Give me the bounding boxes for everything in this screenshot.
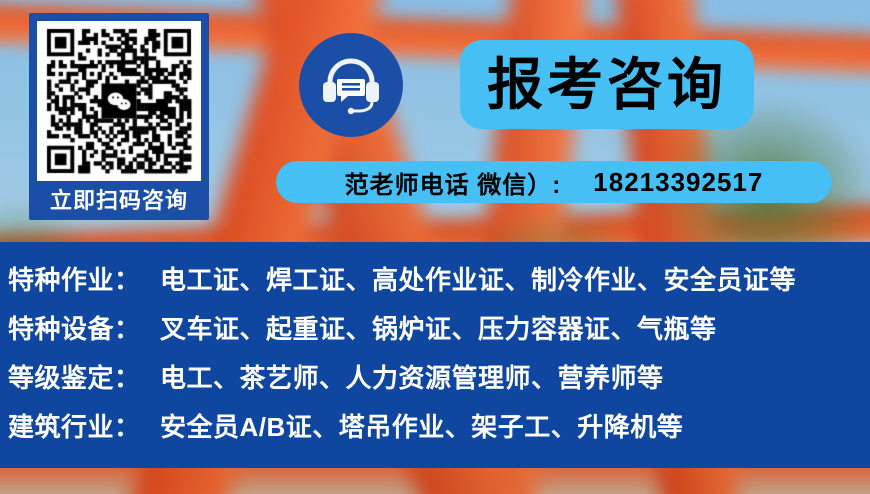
category-label: 等级鉴定： [8,358,160,395]
certificate-category-panel: 特种作业： 电工证、焊工证、高处作业证、制冷作业、安全员证等 特种设备： 叉车证… [0,242,870,468]
category-row: 特种设备： 叉车证、起重证、锅炉证、压力容器证、气瓶等 [8,309,870,358]
headline-pill: 报考咨询 [460,40,754,129]
category-label: 特种作业： [8,260,160,297]
category-row: 建筑行业： 安全员A/B证、塔吊作业、架子工、升降机等 [8,407,870,456]
category-items: 电工、茶艺师、人力资源管理师、营养师等 [160,358,664,395]
promo-banner: 立即扫码咨询 报考咨询 范老师电话 微信）: 18213392517 [0,0,870,494]
contact-phone-number[interactable]: 18213392517 [593,167,763,198]
category-row: 等级鉴定： 电工、茶艺师、人力资源管理师、营养师等 [8,358,870,407]
category-label: 特种设备： [8,309,160,346]
qr-code-card[interactable]: 立即扫码咨询 [29,13,209,220]
category-label: 建筑行业： [8,407,160,444]
qr-code-image[interactable] [37,21,201,181]
category-row: 特种作业： 电工证、焊工证、高处作业证、制冷作业、安全员证等 [8,260,870,309]
category-items: 叉车证、起重证、锅炉证、压力容器证、气瓶等 [160,309,717,346]
contact-label: 范老师电话 微信）: [345,165,562,200]
qr-code-canvas [37,21,201,181]
headset-chat-icon [318,52,384,118]
headline-text: 报考咨询 [487,57,727,113]
category-items: 电工证、焊工证、高处作业证、制冷作业、安全员证等 [160,260,796,297]
qr-caption: 立即扫码咨询 [50,181,188,220]
contact-pill[interactable]: 范老师电话 微信）: 18213392517 [276,161,832,203]
category-items: 安全员A/B证、塔吊作业、架子工、升降机等 [160,407,683,444]
customer-service-badge[interactable] [299,33,403,137]
